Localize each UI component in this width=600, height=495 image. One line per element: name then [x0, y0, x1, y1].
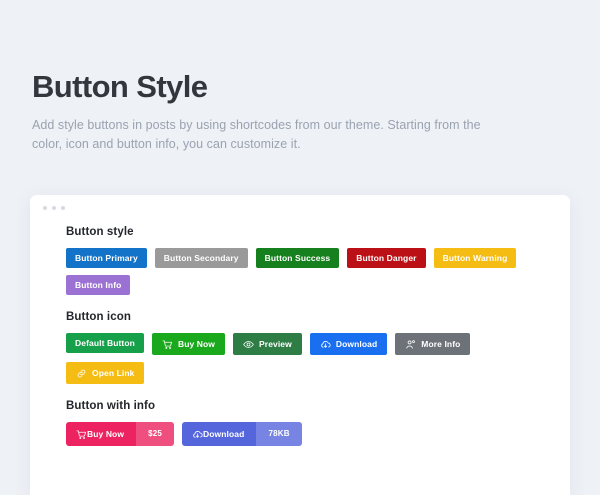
preview-card: Button styleButton PrimaryButton Seconda…	[30, 195, 570, 495]
button-buy-now[interactable]: Buy Now	[152, 333, 225, 355]
link-icon	[76, 368, 87, 379]
button-label: Button Success	[265, 254, 331, 263]
window-dots	[30, 195, 570, 210]
section-button-style: Button styleButton PrimaryButton Seconda…	[66, 226, 570, 295]
user-info-icon	[405, 339, 416, 350]
button-label: More Info	[421, 340, 460, 349]
button-download-with-info[interactable]: Download78KB	[182, 422, 302, 446]
button-label: Button Primary	[75, 254, 138, 263]
button-row: Button PrimaryButton SecondaryButton Suc…	[66, 248, 536, 295]
section-title: Button style	[66, 226, 570, 238]
eye-icon	[243, 339, 254, 350]
button-row: Buy Now$25Download78KB	[66, 422, 536, 446]
cloud-download-icon	[192, 429, 203, 440]
shopping-cart-icon	[162, 339, 173, 350]
button-label: Open Link	[92, 369, 134, 378]
button-button-info[interactable]: Button Info	[66, 275, 130, 295]
window-dot-1	[43, 206, 47, 210]
button-default-button[interactable]: Default Button	[66, 333, 144, 353]
button-button-primary[interactable]: Button Primary	[66, 248, 147, 268]
button-label: Preview	[259, 340, 292, 349]
button-button-success[interactable]: Button Success	[256, 248, 340, 268]
button-label: Buy Now	[87, 430, 124, 439]
page-header: Button Style Add style buttons in posts …	[0, 0, 600, 155]
button-button-secondary[interactable]: Button Secondary	[155, 248, 248, 268]
page-subtitle: Add style buttons in posts by using shor…	[32, 116, 502, 155]
card-body: Button styleButton PrimaryButton Seconda…	[30, 210, 570, 446]
button-open-link[interactable]: Open Link	[66, 362, 144, 384]
section-title: Button icon	[66, 311, 570, 323]
section-button-icon: Button iconDefault ButtonBuy NowPreviewD…	[66, 311, 570, 384]
section-title: Button with info	[66, 400, 570, 412]
button-info-badge: 78KB	[256, 422, 301, 446]
button-buy-now-with-info[interactable]: Buy Now$25	[66, 422, 174, 446]
button-label: Button Danger	[356, 254, 416, 263]
button-label: Download	[203, 430, 244, 439]
shopping-cart-icon	[76, 429, 87, 440]
button-label: Button Secondary	[164, 254, 239, 263]
button-label: Button Info	[75, 281, 121, 290]
button-download[interactable]: Download	[310, 333, 387, 355]
button-more-info[interactable]: More Info	[395, 333, 470, 355]
page-title: Button Style	[32, 70, 600, 104]
button-label: Button Warning	[443, 254, 508, 263]
button-row: Default ButtonBuy NowPreviewDownloadMore…	[66, 333, 536, 384]
button-button-warning[interactable]: Button Warning	[434, 248, 517, 268]
window-dot-2	[52, 206, 56, 210]
button-label: Buy Now	[178, 340, 215, 349]
button-label: Default Button	[75, 339, 135, 348]
button-label: Download	[336, 340, 377, 349]
section-button-with-info: Button with infoBuy Now$25Download78KB	[66, 400, 570, 446]
button-sections: Button styleButton PrimaryButton Seconda…	[66, 226, 570, 446]
button-button-danger[interactable]: Button Danger	[347, 248, 425, 268]
button-info-badge: $25	[136, 422, 174, 446]
button-preview[interactable]: Preview	[233, 333, 302, 355]
cloud-download-icon	[320, 339, 331, 350]
window-dot-3	[61, 206, 65, 210]
